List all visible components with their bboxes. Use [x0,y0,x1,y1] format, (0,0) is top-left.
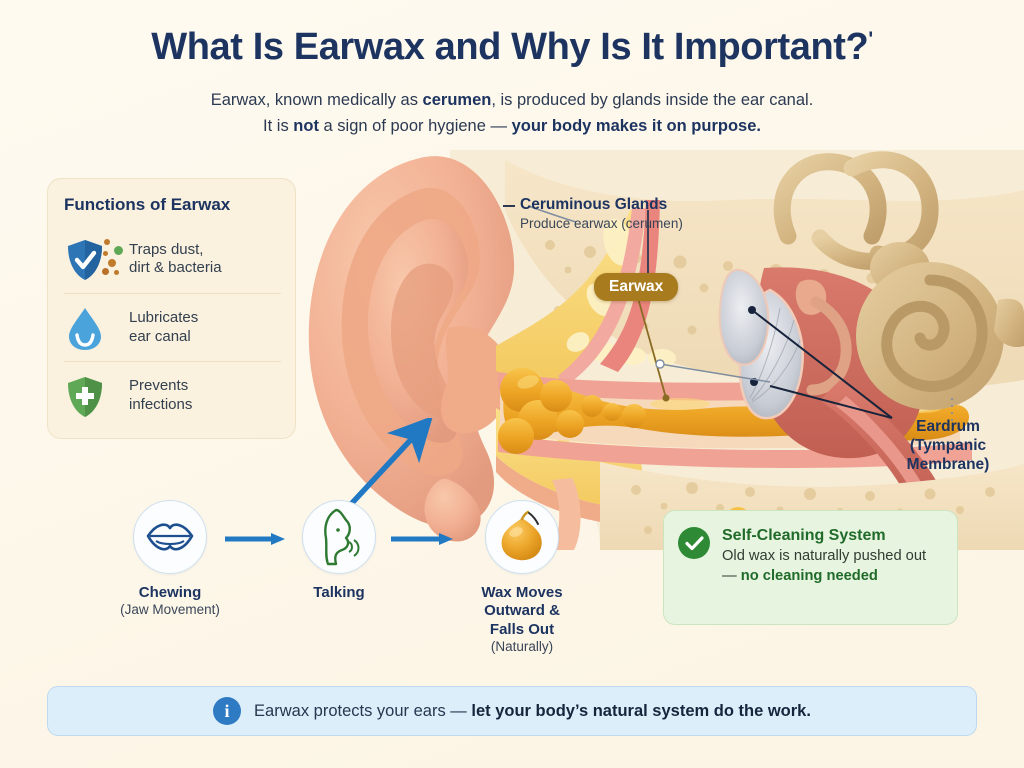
flow-label-wax-moves: Wax Moves Outward & Falls Out (Naturally… [447,584,597,656]
info-banner: i Earwax protects your ears — let your b… [47,686,977,736]
check-circle-icon [678,527,710,559]
subtitle-2c: a sign of poor hygiene — [319,117,512,135]
function-icon-wrap [64,304,120,352]
info-icon: i [213,697,241,725]
function-label-line2: ear canal [129,328,198,346]
flow-label-talking-text: Talking [313,584,364,601]
shield-check-icon [66,239,104,281]
chewing-circle [133,500,207,574]
flow-node-chewing: Chewing (Jaw Movement) [95,500,245,619]
page-title: What Is Earwax and Why Is It Important?' [0,26,1024,69]
shield-plus-icon [66,376,104,418]
title-mark: ' [868,28,872,50]
function-icon-wrap [64,235,120,283]
page-title-text: What Is Earwax and Why Is It Important? [151,26,868,68]
subtitle-line-2: It is not a sign of poor hygiene — your … [263,117,761,135]
label-ceruminous-glands-title: Ceruminous Glands [520,196,760,214]
flow-label-talking: Talking [264,584,414,602]
dust-particles-icon [102,237,122,281]
label-ceruminous-glands: Ceruminous Glands Produce earwax (cerume… [520,196,760,231]
talking-face-icon [316,508,362,566]
subtitle-1b: cerumen [423,91,492,109]
function-label-line2: infections [129,396,192,414]
flow-node-wax-moves-outward: Wax Moves Outward & Falls Out (Naturally… [447,500,597,656]
subtitle-2a: It is [263,117,293,135]
function-label-line2: dirt & bacteria [129,259,222,277]
function-label: Prevents infections [129,377,192,414]
self-cleaning-title: Self-Cleaning System [722,525,941,546]
flow-arrow-2 [391,532,453,546]
info-banner-text-b: let your body’s natural system do the wo… [471,702,811,720]
label-eardrum-line1: Eardrum [893,418,1003,437]
functions-panel: Functions of Earwax [47,178,296,439]
lips-icon [144,520,196,554]
self-cleaning-body-b: no cleaning needed [741,568,878,584]
function-label: Traps dust, dirt & bacteria [129,241,222,278]
label-ceruminous-glands-sub: Produce earwax (cerumen) [520,216,760,231]
subtitle-1a: Earwax, known medically as [211,91,423,109]
label-eardrum-line2: (Tympanic [893,437,1003,456]
flow-label-chewing: Chewing (Jaw Movement) [95,584,245,619]
talking-circle [302,500,376,574]
badge-earwax: Earwax [594,273,678,301]
flow-sub-chewing: (Jaw Movement) [95,602,245,619]
function-item-lubricates: Lubricates ear canal [64,293,281,361]
info-banner-text-a: Earwax protects your ears — [254,702,471,720]
function-label: Lubricates ear canal [129,309,198,346]
leader-dash [503,205,515,207]
subtitle-2b: not [293,117,319,135]
function-item-prevents-infections: Prevents infections [64,361,281,429]
page-subtitle: Earwax, known medically as cerumen, is p… [92,88,932,139]
self-cleaning-callout: Self-Cleaning System Old wax is naturall… [663,510,958,625]
wax-blob-circle [485,500,559,574]
subtitle-2d: your body makes it on purpose. [512,117,761,135]
info-banner-text: Earwax protects your ears — let your bod… [254,702,811,721]
flow-label-chewing-text: Chewing [139,584,202,601]
flow-node-talking: Talking [264,500,414,602]
flow-sub-wax: (Naturally) [447,639,597,656]
function-label-line1: Lubricates [129,309,198,327]
subtitle-line-1: Earwax, known medically as cerumen, is p… [211,91,814,109]
flow-label-wax-line2: Outward & [447,602,597,620]
function-label-line1: Traps dust, [129,241,222,259]
flow-label-wax-line1: Wax Moves [447,584,597,602]
flow-label-wax-line3: Falls Out [447,621,597,639]
functions-panel-heading: Functions of Earwax [64,195,281,215]
label-eardrum-line3: Membrane) [893,456,1003,475]
subtitle-1c: , is produced by glands inside the ear c… [491,91,813,109]
wax-blob-icon [496,510,548,564]
water-drop-icon [66,306,104,351]
label-eardrum: Eardrum (Tympanic Membrane) [893,418,1003,475]
function-label-line1: Prevents [129,377,192,395]
function-icon-wrap [64,372,120,420]
infographic-canvas: What Is Earwax and Why Is It Important?'… [0,0,1024,768]
self-cleaning-text: Self-Cleaning System Old wax is naturall… [722,525,941,587]
function-item-traps-dust: Traps dust, dirt & bacteria [64,225,281,293]
